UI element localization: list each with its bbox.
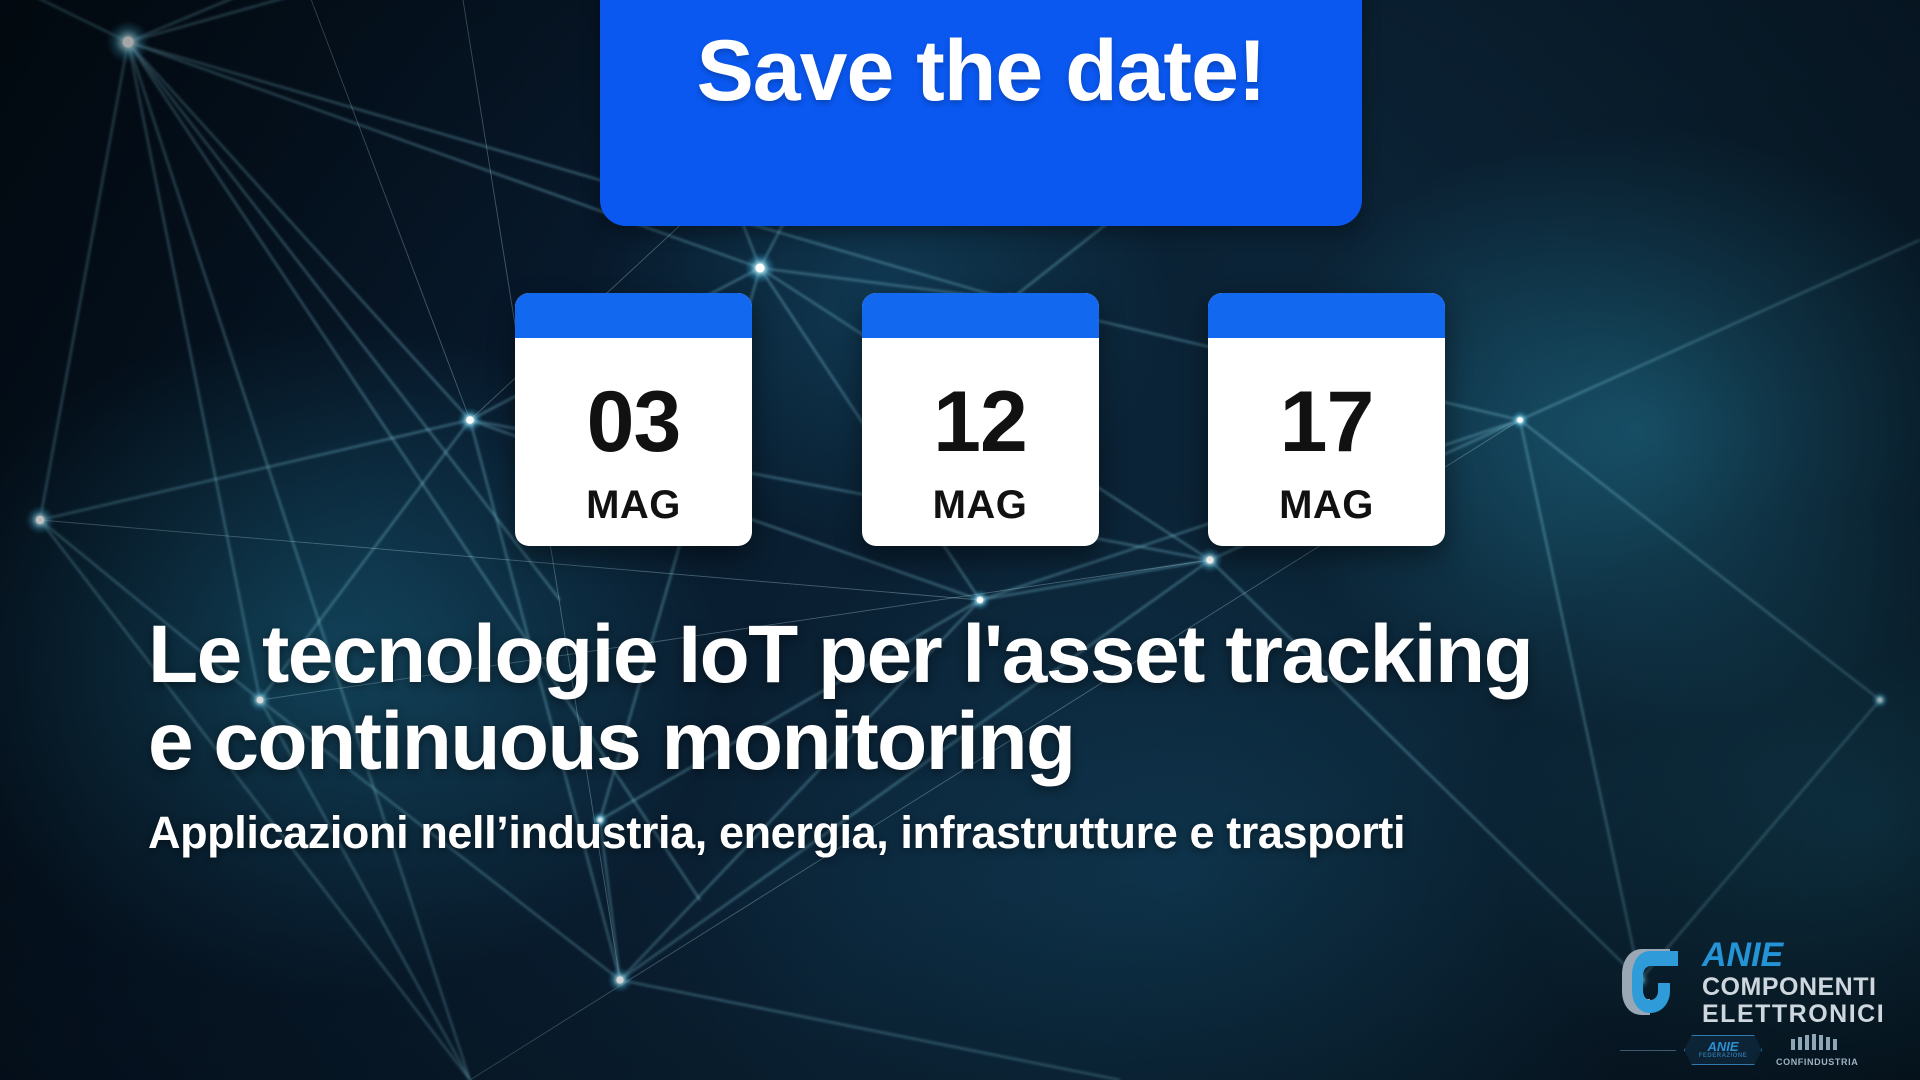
anie-logo-mark-icon bbox=[1620, 945, 1694, 1019]
anie-federazione-badge-icon: ANIE FEDERAZIONE bbox=[1684, 1035, 1762, 1065]
logo-line2: COMPONENTI bbox=[1702, 975, 1885, 1000]
logo-brand: ANIE bbox=[1702, 938, 1885, 972]
anie-logo: ANIE COMPONENTI ELETTRONICI ANIE FEDERAZ… bbox=[1620, 940, 1892, 1068]
poster-canvas: Save the date! 03 MAG 12 MAG 17 MAG Le t… bbox=[0, 0, 1920, 1080]
divider-line bbox=[1620, 1050, 1676, 1051]
event-title-line2: e continuous monitoring bbox=[148, 699, 1828, 786]
date-month: MAG bbox=[933, 485, 1028, 525]
logo-main-row: ANIE COMPONENTI ELETTRONICI bbox=[1620, 940, 1892, 1024]
confindustria-badge: CONFINDUSTRIA bbox=[1776, 1033, 1850, 1067]
federation-word: FEDERAZIONE bbox=[1684, 1053, 1762, 1059]
date-day: 03 bbox=[587, 379, 681, 465]
date-day: 12 bbox=[933, 379, 1027, 465]
logo-affiliation-row: ANIE FEDERAZIONE CONFINDUSTRIA bbox=[1620, 1030, 1892, 1070]
date-card: 17 MAG bbox=[1208, 293, 1445, 546]
confindustria-word: CONFINDUSTRIA bbox=[1776, 1058, 1850, 1067]
logo-line3: ELETTRONICI bbox=[1702, 1002, 1885, 1027]
event-title-line1: Le tecnologie IoT per l'asset tracking bbox=[148, 609, 1532, 700]
event-subtitle: Applicazioni nell’industria, energia, in… bbox=[148, 808, 1828, 858]
date-month: MAG bbox=[1279, 485, 1374, 525]
date-card: 03 MAG bbox=[515, 293, 752, 546]
calendar-strip-icon bbox=[862, 293, 1099, 338]
federation-brand: ANIE bbox=[1684, 1040, 1762, 1053]
date-card: 12 MAG bbox=[862, 293, 1099, 546]
event-title: Le tecnologie IoT per l'asset trackinge … bbox=[148, 612, 1828, 786]
save-the-date-text: Save the date! bbox=[696, 28, 1265, 114]
date-month: MAG bbox=[586, 485, 681, 525]
confindustria-crown-icon bbox=[1783, 1033, 1843, 1051]
logo-wordmark: ANIE COMPONENTI ELETTRONICI bbox=[1702, 938, 1885, 1027]
headline-block: Le tecnologie IoT per l'asset trackinge … bbox=[148, 612, 1828, 857]
calendar-strip-icon bbox=[515, 293, 752, 338]
date-day: 17 bbox=[1280, 379, 1374, 465]
date-card-group: 03 MAG 12 MAG 17 MAG bbox=[515, 293, 1445, 553]
calendar-strip-icon bbox=[1208, 293, 1445, 338]
save-the-date-banner: Save the date! bbox=[600, 0, 1362, 226]
